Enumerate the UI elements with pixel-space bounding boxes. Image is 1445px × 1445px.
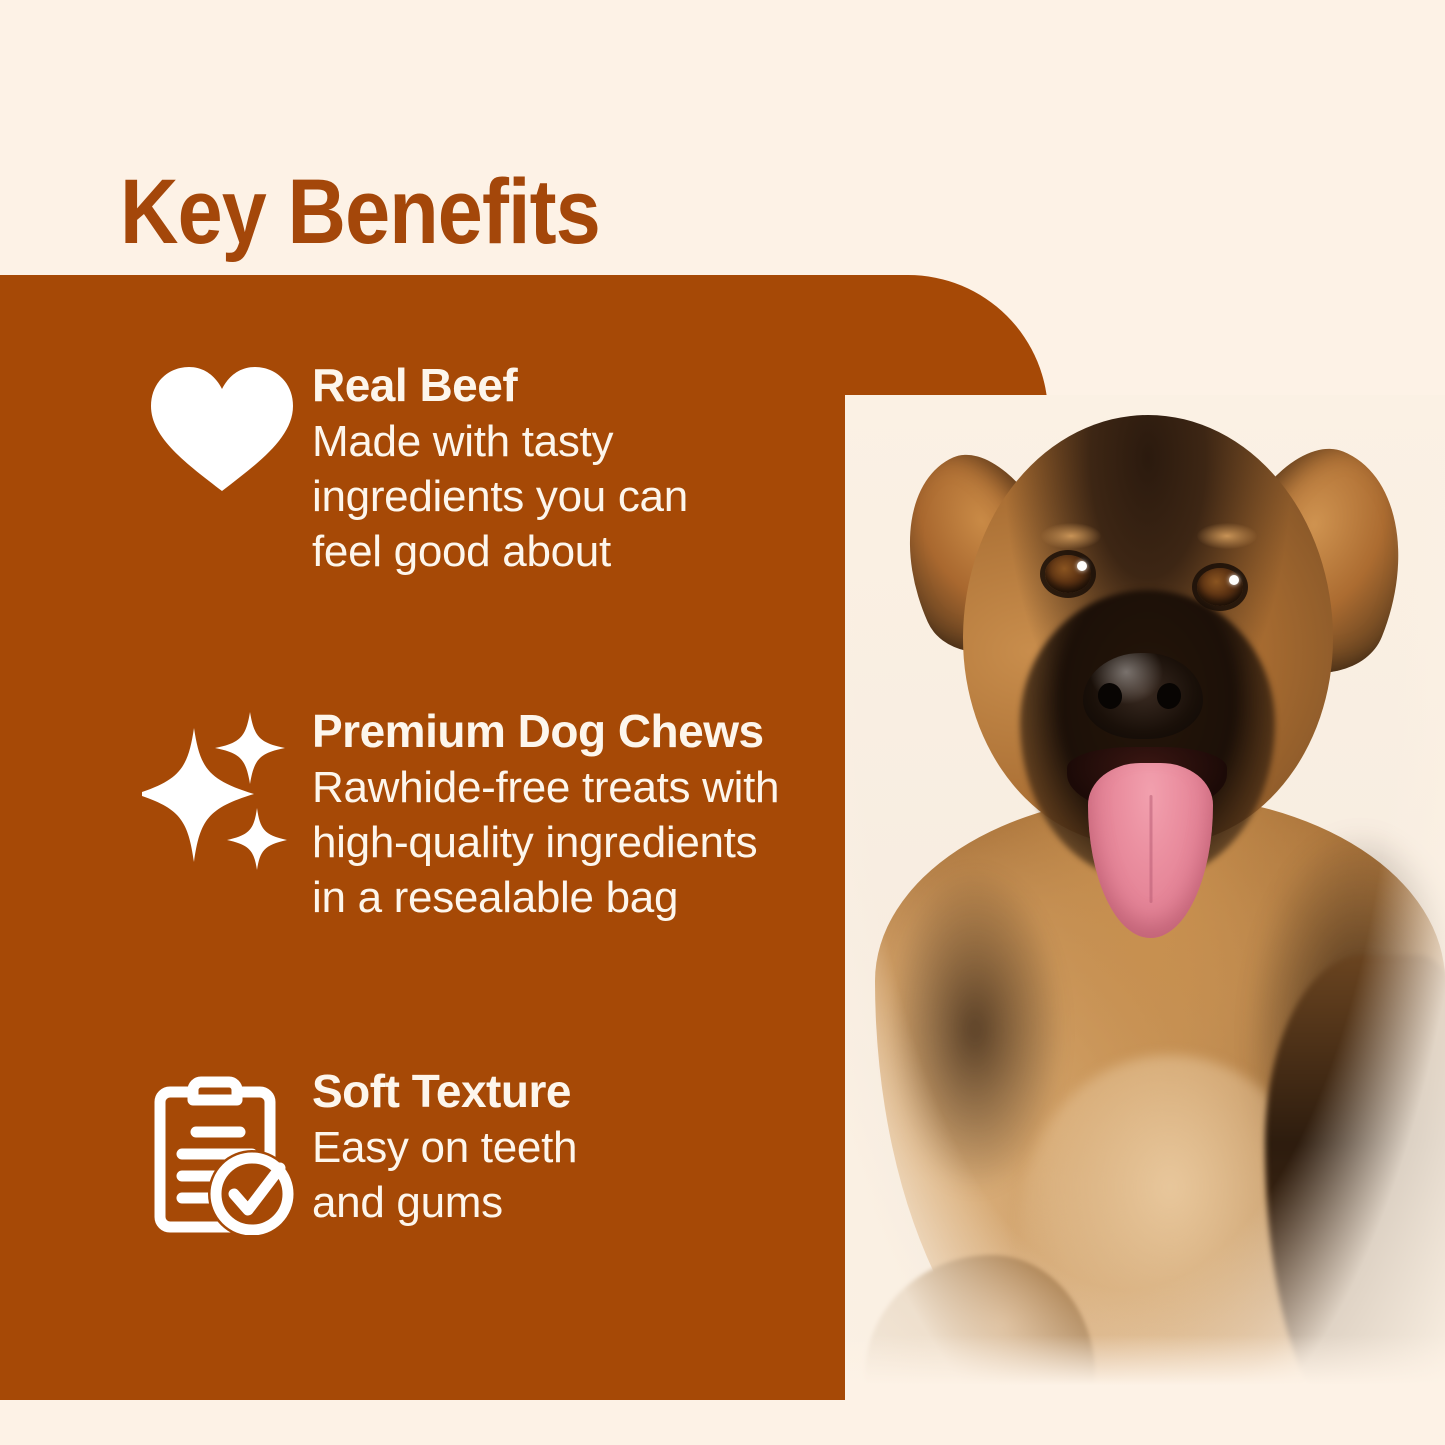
- key-benefits-infographic: Key Benefits Re: [0, 0, 1445, 1445]
- benefit-title: Real Beef: [312, 360, 688, 412]
- page-title: Key Benefits: [120, 166, 600, 258]
- benefit-description: Made with tasty ingredients you can feel…: [312, 414, 688, 580]
- benefit-item: Real Beef Made with tasty ingredients yo…: [132, 360, 688, 580]
- benefit-title: Soft Texture: [312, 1066, 577, 1118]
- benefit-description: Easy on teeth and gums: [312, 1120, 577, 1231]
- sparkles-icon: [132, 706, 312, 870]
- benefit-description: Rawhide-free treats with high-quality in…: [312, 760, 779, 926]
- dog-right-eye: [1197, 568, 1243, 606]
- dog-photo: [845, 395, 1445, 1405]
- heart-icon: [132, 360, 312, 494]
- clipboard-check-icon: [132, 1066, 312, 1235]
- benefit-title: Premium Dog Chews: [312, 706, 779, 758]
- benefit-item: Premium Dog Chews Rawhide-free treats wi…: [132, 706, 779, 926]
- benefit-item: Soft Texture Easy on teeth and gums: [132, 1066, 577, 1235]
